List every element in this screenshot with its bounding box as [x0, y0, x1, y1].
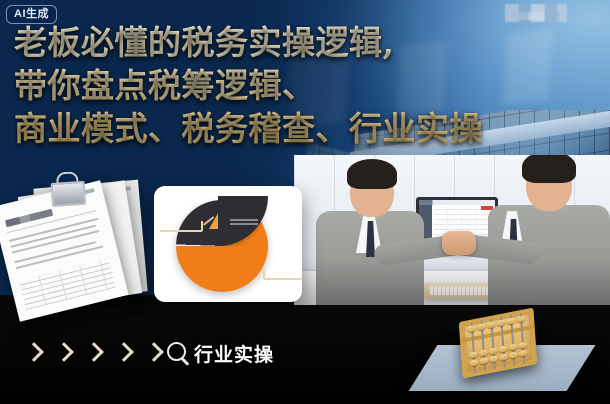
photo-shading: [294, 155, 610, 305]
document-table: [19, 259, 116, 310]
title-line-1: 老板必懂的税务实操逻辑,: [14, 22, 594, 65]
title-line-3: 商业模式、税务稽查、行业实操: [14, 108, 594, 151]
magnifier-icon: [167, 342, 191, 366]
document-heading-bar: [5, 209, 53, 227]
documents-image: [0, 174, 156, 308]
pie-chart-card: [154, 186, 302, 302]
chevron-right-icon: [114, 342, 134, 362]
ai-generated-badge: AI生成: [6, 5, 57, 24]
binder-clip-body: [51, 181, 87, 207]
pie-leader-line-left: [160, 230, 202, 232]
pie-leader-line-right: [264, 278, 302, 280]
magnifier-handle: [181, 357, 189, 365]
pixelated-watermark: [505, 4, 567, 22]
search-tag-label: 行业实操: [194, 340, 274, 367]
title-line-2: 带你盘点税筹逻辑、: [14, 65, 594, 108]
binder-clip-icon: [47, 173, 85, 205]
chevron-row: [27, 345, 161, 359]
document-text-line: [14, 241, 96, 263]
chevron-right-icon: [144, 342, 164, 362]
page-title: 老板必懂的税务实操逻辑, 带你盘点税筹逻辑、 商业模式、税务稽查、行业实操: [14, 22, 594, 151]
poster-root: AI生成 老板必懂的税务实操逻辑, 带你盘点税筹逻辑、 商业模式、税务稽查、行业…: [0, 0, 610, 404]
pie-slice-label-text: [230, 218, 258, 225]
chevron-right-icon: [84, 342, 104, 362]
handshake-photo: [294, 155, 610, 305]
search-tag: 行业实操: [167, 340, 274, 367]
handshake-hands: [442, 231, 476, 255]
chevron-right-icon: [54, 342, 74, 362]
chevron-right-icon: [24, 342, 44, 362]
